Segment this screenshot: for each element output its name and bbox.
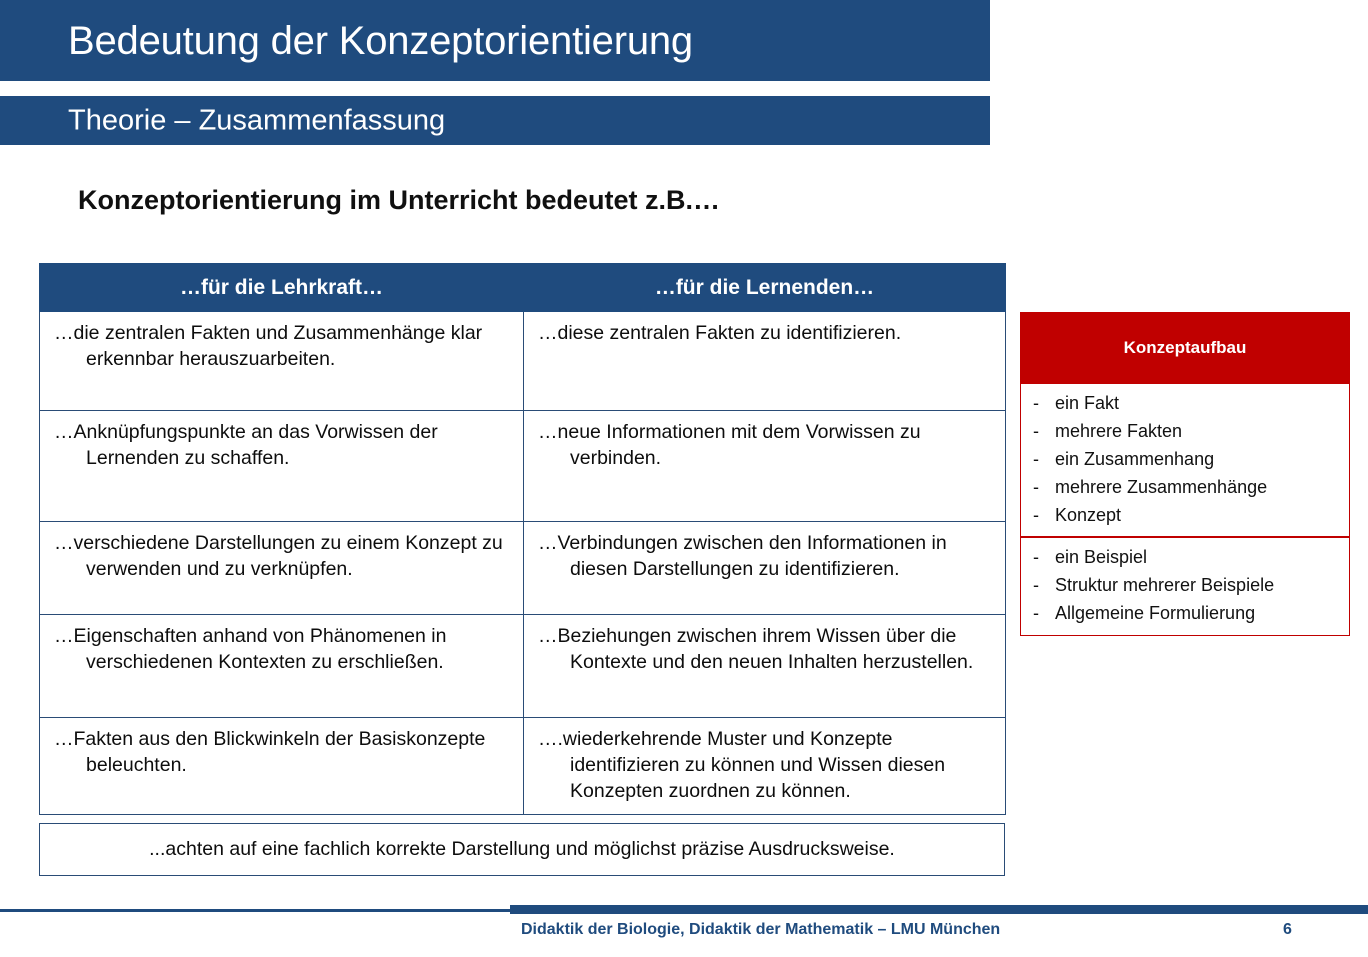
list-item-label: Konzept (1055, 502, 1349, 530)
concept-panel-title: Konzeptaufbau (1020, 312, 1350, 384)
list-item: - Struktur mehrerer Beispiele (1021, 572, 1349, 600)
table-header-learner: …für die Lernenden… (524, 264, 1006, 312)
dash-bullet-icon: - (1033, 446, 1055, 474)
table-row: …Anknüpfungspunkte an das Vorwissen der … (40, 411, 1006, 522)
table-cell-teacher: …Eigenschaften anhand von Phänomenen in … (40, 615, 524, 718)
cell-text: …Anknüpfungspunkte an das Vorwissen der … (54, 420, 509, 472)
dash-bullet-icon: - (1033, 502, 1055, 530)
body-heading: Konzeptorientierung im Unterricht bedeut… (78, 185, 720, 216)
table-row: …verschiedene Darstellungen zu einem Kon… (40, 522, 1006, 615)
cell-text: …Eigenschaften anhand von Phänomenen in … (54, 624, 509, 676)
dash-bullet-icon: - (1033, 474, 1055, 502)
dash-bullet-icon: - (1033, 418, 1055, 446)
cell-text: …Verbindungen zwischen den Informationen… (538, 531, 991, 583)
cell-text: …die zentralen Fakten und Zusammenhänge … (54, 321, 509, 373)
list-item: - ein Fakt (1021, 390, 1349, 418)
list-item: - mehrere Fakten (1021, 418, 1349, 446)
concept-panel-section-1: - ein Fakt - mehrere Fakten - ein Zusamm… (1020, 384, 1350, 537)
footer-institution-label: Didaktik der Biologie, Didaktik der Math… (521, 922, 1000, 938)
cell-text: …neue Informationen mit dem Vorwissen zu… (538, 420, 991, 472)
dash-bullet-icon: - (1033, 600, 1055, 628)
table-cell-teacher: …Fakten aus den Blickwinkeln der Basisko… (40, 718, 524, 815)
cell-text: …verschiedene Darstellungen zu einem Kon… (54, 531, 509, 583)
table-cell-learner: …Verbindungen zwischen den Informationen… (524, 522, 1006, 615)
cell-text: …Beziehungen zwischen ihrem Wissen über … (538, 624, 991, 676)
table-row: …Eigenschaften anhand von Phänomenen in … (40, 615, 1006, 718)
concept-orientation-table: …für die Lehrkraft… …für die Lernenden… … (39, 263, 1006, 815)
note-text: ...achten auf eine fachlich korrekte Dar… (149, 838, 895, 861)
dash-bullet-icon: - (1033, 572, 1055, 600)
slide-title-bar: Bedeutung der Konzeptorientierung (0, 0, 990, 81)
list-item-label: mehrere Fakten (1055, 418, 1349, 446)
dash-bullet-icon: - (1033, 544, 1055, 572)
concept-structure-panel: Konzeptaufbau - ein Fakt - mehrere Fakte… (1020, 312, 1350, 636)
list-item: - mehrere Zusammenhänge (1021, 474, 1349, 502)
concept-panel-section-2: - ein Beispiel - Struktur mehrerer Beisp… (1020, 537, 1350, 636)
table-cell-teacher: …Anknüpfungspunkte an das Vorwissen der … (40, 411, 524, 522)
table-cell-teacher: …verschiedene Darstellungen zu einem Kon… (40, 522, 524, 615)
list-item-label: Struktur mehrerer Beispiele (1055, 572, 1349, 600)
note-box: ...achten auf eine fachlich korrekte Dar… (39, 823, 1005, 876)
list-item-label: ein Zusammenhang (1055, 446, 1349, 474)
list-item: - ein Zusammenhang (1021, 446, 1349, 474)
footer-accent-bar (510, 905, 1368, 914)
footer-page-number: 6 (1283, 922, 1292, 938)
list-item: - Allgemeine Formulierung (1021, 600, 1349, 628)
table-header-teacher: …für die Lehrkraft… (40, 264, 524, 312)
table-row: …die zentralen Fakten und Zusammenhänge … (40, 312, 1006, 411)
dash-bullet-icon: - (1033, 390, 1055, 418)
cell-text: …Fakten aus den Blickwinkeln der Basisko… (54, 727, 509, 779)
list-item: - ein Beispiel (1021, 544, 1349, 572)
table-cell-learner: ….wiederkehrende Muster und Konzepte ide… (524, 718, 1006, 815)
list-item: - Konzept (1021, 502, 1349, 530)
table-header-row: …für die Lehrkraft… …für die Lernenden… (40, 264, 1006, 312)
list-item-label: Allgemeine Formulierung (1055, 600, 1349, 628)
list-item-label: ein Beispiel (1055, 544, 1349, 572)
table-row: …Fakten aus den Blickwinkeln der Basisko… (40, 718, 1006, 815)
page-title: Bedeutung der Konzeptorientierung (68, 21, 693, 61)
list-item-label: ein Fakt (1055, 390, 1349, 418)
table-cell-learner: …Beziehungen zwischen ihrem Wissen über … (524, 615, 1006, 718)
page-subtitle: Theorie – Zusammenfassung (68, 106, 445, 135)
table-cell-teacher: …die zentralen Fakten und Zusammenhänge … (40, 312, 524, 411)
list-item-label: mehrere Zusammenhänge (1055, 474, 1349, 502)
cell-text: …diese zentralen Fakten zu identifiziere… (538, 321, 991, 347)
cell-text: ….wiederkehrende Muster und Konzepte ide… (538, 727, 991, 805)
slide-subtitle-bar: Theorie – Zusammenfassung (0, 96, 990, 145)
table-cell-learner: …neue Informationen mit dem Vorwissen zu… (524, 411, 1006, 522)
table-cell-learner: …diese zentralen Fakten zu identifiziere… (524, 312, 1006, 411)
